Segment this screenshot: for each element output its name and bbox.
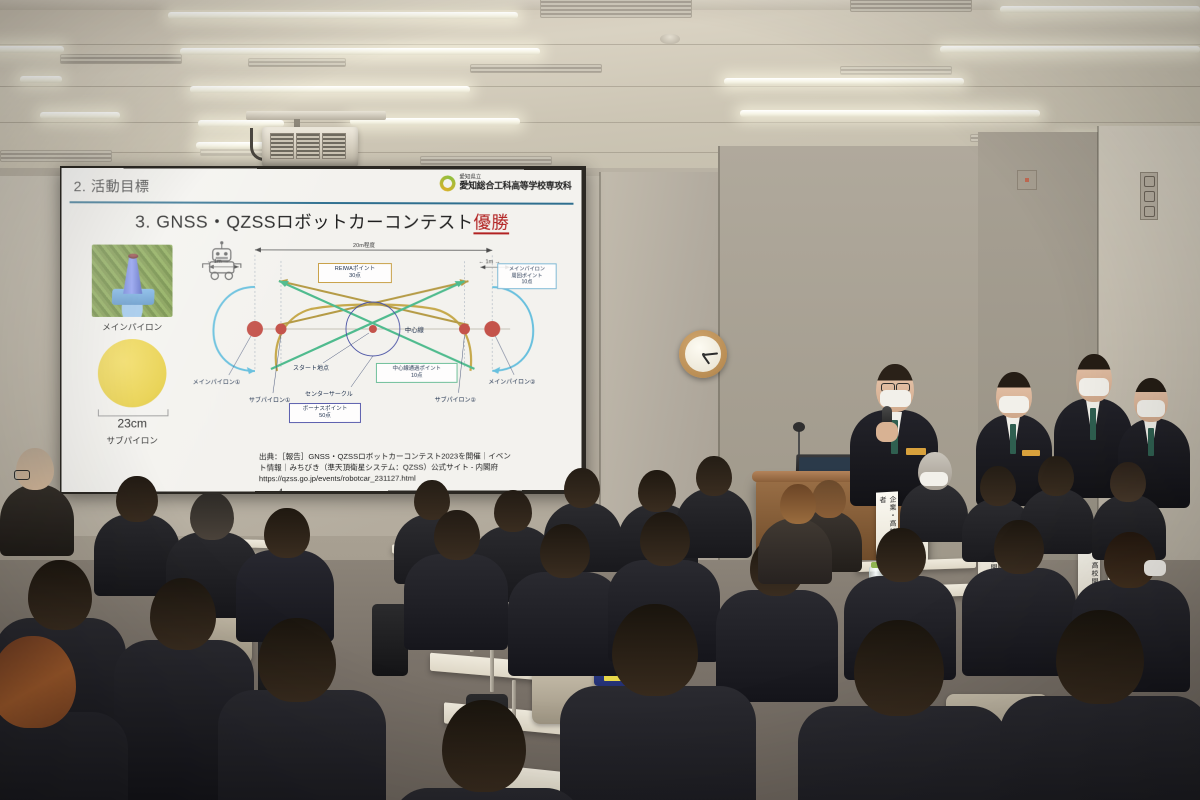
sub-pylon-circle xyxy=(98,339,167,407)
ceiling-vent xyxy=(470,64,602,73)
wall-sensor-icon xyxy=(1017,170,1037,190)
projector-mount xyxy=(246,111,386,120)
ceiling-projector xyxy=(262,127,358,167)
label-start-point: スタート地点 xyxy=(293,363,329,372)
ceiling-vent xyxy=(248,58,346,67)
ceiling-strip-light xyxy=(20,76,62,83)
ceiling-strip-light xyxy=(40,112,120,119)
label-center-line: 中心線 xyxy=(405,325,424,334)
scale-top-label: 20m程度 xyxy=(351,241,377,249)
slide-header: 2. 活動目標 愛知県立 愛知総合工科高等学校専攻科 xyxy=(70,174,574,204)
ceiling-strip-light xyxy=(1000,6,1200,13)
ceiling-vent xyxy=(420,156,552,165)
center-line-pass-point-box: 中心線通過ポイント10点 xyxy=(376,363,458,383)
bag xyxy=(372,604,408,676)
reiwa-point-box: REIWAポイント30点 xyxy=(318,263,392,283)
smoke-detector-icon xyxy=(660,34,680,44)
ceiling-strip-light xyxy=(724,78,964,85)
face-mask xyxy=(1137,400,1165,417)
label-sub-pylon-1: サブパイロン① xyxy=(249,395,290,404)
presenter-tie xyxy=(1090,408,1096,440)
label-sub-pylon-2: サブパイロン② xyxy=(435,395,476,404)
ceiling-strip-light xyxy=(0,46,64,53)
main-pylon-caption: メインパイロン xyxy=(80,321,185,333)
slide-heading-main: 3. GNSS・QZSSロボットカーコンテスト xyxy=(135,211,473,232)
ceiling-strip-light xyxy=(180,48,540,55)
face-mask xyxy=(999,396,1029,413)
org-name: 愛知総合工科高等学校専攻科 xyxy=(459,182,571,192)
ceiling-vent xyxy=(60,54,182,64)
ceiling-strip-light xyxy=(168,12,518,19)
face-mask xyxy=(880,390,911,407)
projection-screen: 2. 活動目標 愛知県立 愛知総合工科高等学校専攻科 3. GNSS・QZSSロ… xyxy=(60,166,586,494)
ceiling-vent xyxy=(540,0,692,18)
ceiling-vent xyxy=(0,150,112,162)
slide-citation: 出典：［報告］GNSS・QZSSロボットカーコンテスト2023を開催｜イベン ト… xyxy=(259,450,558,484)
slide-header-rule xyxy=(70,201,574,204)
scale-left-label: ← 1m → xyxy=(207,259,229,265)
label-center-circle: センターサークル xyxy=(305,389,353,398)
ceiling-vent xyxy=(850,0,972,12)
label-main-pylon-1: メインパイロン① xyxy=(193,377,241,386)
main-pylon-photo xyxy=(92,245,173,317)
face-mask xyxy=(1079,378,1109,396)
presenter-badge xyxy=(1022,450,1040,456)
citation-url: https://qzss.go.jp/events/robotcar_23112… xyxy=(259,472,558,484)
sub-pylon-caption: サブパイロン xyxy=(76,434,189,446)
swirl-logo-icon xyxy=(440,175,456,191)
school-logo: 愛知県立 愛知総合工科高等学校専攻科 xyxy=(440,175,572,191)
slide-page-number: -4- xyxy=(275,487,286,492)
ceiling-vent xyxy=(840,66,952,75)
slide-content: 2. 活動目標 愛知県立 愛知総合工科高等学校専攻科 3. GNSS・QZSSロ… xyxy=(61,168,581,492)
slide-section-title: 2. 活動目標 xyxy=(74,176,150,196)
ceiling-strip-light xyxy=(198,120,284,127)
ceiling-strip-light xyxy=(740,110,1040,117)
lecture-hall-screenshot: 2. 活動目標 愛知県立 愛知総合工科高等学校専攻科 3. GNSS・QZSSロ… xyxy=(0,0,1200,800)
course-diagram: 20m程度 ← 1m → ← 1m → REIWAポイント30点 メインパイロン… xyxy=(193,241,552,447)
dimension-label: 23cm xyxy=(80,416,185,430)
main-pylon-lap-point-box: メインパイロン周回ポイント10点 xyxy=(497,263,556,288)
slide-heading: 3. GNSS・QZSSロボットカーコンテスト優勝 xyxy=(61,208,581,234)
citation-line-1: 出典：［報告］GNSS・QZSSロボットカーコンテスト2023を開催｜イベン xyxy=(259,450,558,462)
ceiling-strip-light xyxy=(190,86,470,93)
presenter-tie xyxy=(1148,428,1154,456)
presenter-badge xyxy=(906,448,926,455)
ceiling-strip-light xyxy=(940,46,1200,53)
label-main-pylon-2: メインパイロン② xyxy=(488,377,535,386)
presenter-tie xyxy=(1010,424,1016,454)
wall-pictogram-sign xyxy=(1140,172,1158,220)
bonus-point-box: ボーナスポイント50点 xyxy=(289,403,361,423)
wall-clock xyxy=(679,330,727,378)
slide-heading-highlight: 優勝 xyxy=(474,212,510,234)
